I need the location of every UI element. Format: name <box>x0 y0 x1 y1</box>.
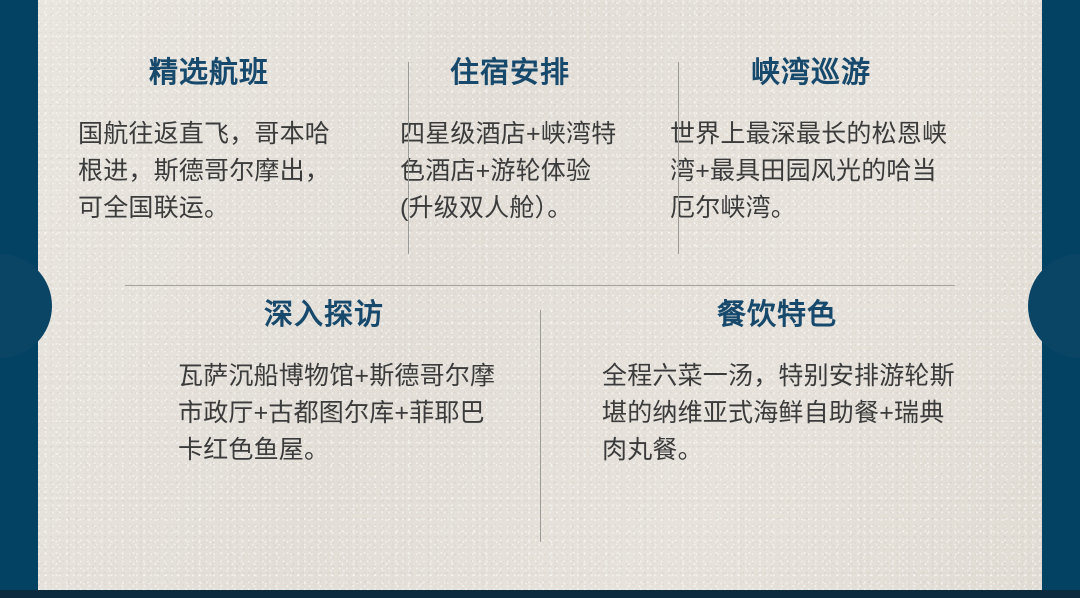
feature-block-visit: 深入探访 瓦萨沉船博物馆+斯德哥尔摩市政厅+古都图尔库+菲耶巴卡红色鱼屋。 <box>38 300 540 550</box>
feature-body-visit: 瓦萨沉船博物馆+斯德哥尔摩市政厅+古都图尔库+菲耶巴卡红色鱼屋。 <box>178 358 500 469</box>
feature-body-dining: 全程六菜一汤，特别安排游轮斯堪的纳维亚式海鲜自助餐+瑞典肉丸餐。 <box>602 358 962 469</box>
feature-title-flights: 精选航班 <box>78 58 340 90</box>
feature-body-flights: 国航往返直飞，哥本哈根进，斯德哥尔摩出，可全国联运。 <box>78 116 340 227</box>
divider-vertical-2 <box>678 62 679 254</box>
feature-title-hotel: 住宿安排 <box>400 58 620 90</box>
feature-body-hotel: 四星级酒店+峡湾特色酒店+游轮体验(升级双人舱）。 <box>400 116 620 227</box>
feature-block-dining: 餐饮特色 全程六菜一汤，特别安排游轮斯堪的纳维亚式海鲜自助餐+瑞典肉丸餐。 <box>540 300 1042 550</box>
divider-vertical-1 <box>408 62 409 254</box>
bottom-accent-strip <box>0 590 1080 598</box>
feature-block-flights: 精选航班 国航往返直飞，哥本哈根进，斯德哥尔摩出，可全国联运。 <box>38 58 368 258</box>
feature-body-fjord: 世界上最深最长的松恩峡湾+最具田园风光的哈当厄尔峡湾。 <box>670 116 952 227</box>
feature-title-fjord: 峡湾巡游 <box>670 58 952 90</box>
divider-horizontal <box>125 285 955 286</box>
features-row-top: 精选航班 国航往返直飞，哥本哈根进，斯德哥尔摩出，可全国联运。 住宿安排 四星级… <box>38 58 1042 258</box>
poster-stage: 精选航班 国航往返直飞，哥本哈根进，斯德哥尔摩出，可全国联运。 住宿安排 四星级… <box>0 0 1080 598</box>
feature-title-dining: 餐饮特色 <box>602 300 952 332</box>
card-content: 精选航班 国航往返直飞，哥本哈根进，斯德哥尔摩出，可全国联运。 住宿安排 四星级… <box>38 0 1042 590</box>
feature-title-visit: 深入探访 <box>148 300 500 332</box>
divider-vertical-3 <box>540 310 541 542</box>
feature-block-fjord: 峡湾巡游 世界上最深最长的松恩峡湾+最具田园风光的哈当厄尔峡湾。 <box>638 58 968 258</box>
